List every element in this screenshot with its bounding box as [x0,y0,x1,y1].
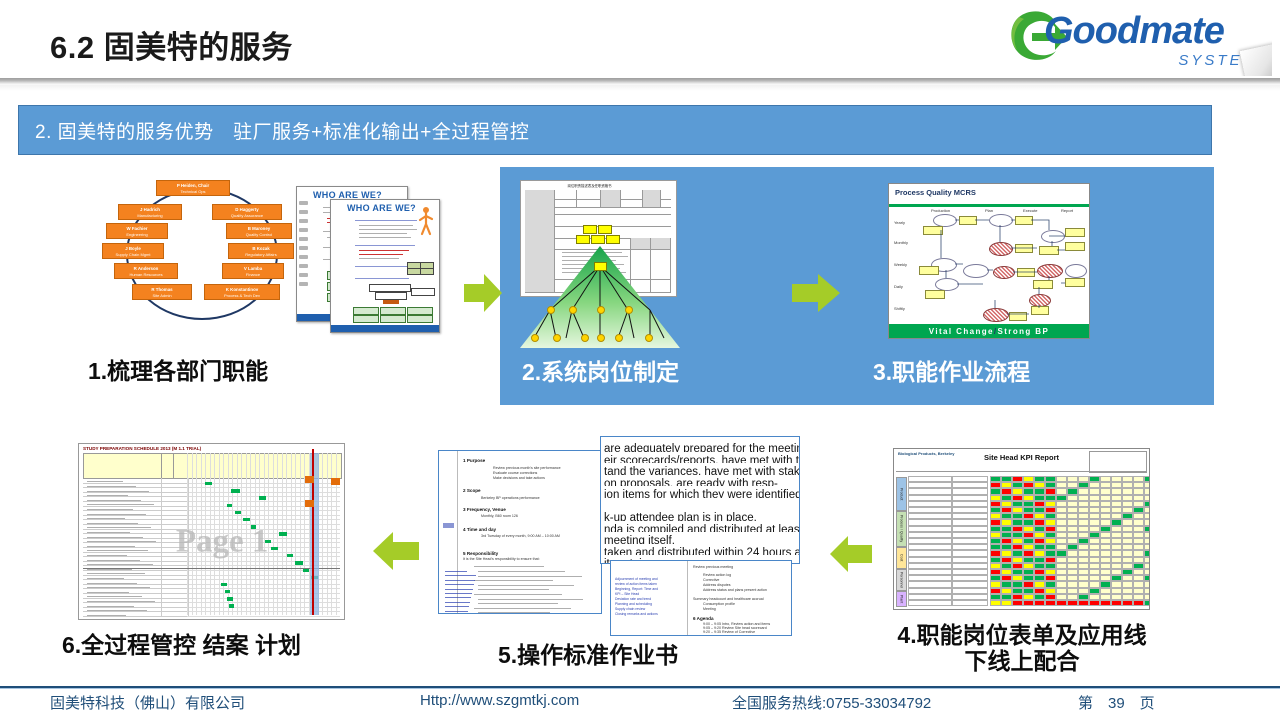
step-4-caption-line1: 4.职能岗位表单及应用线 [897,622,1146,648]
position-dot [581,334,589,342]
kpi-cell [1133,600,1144,606]
step-4-caption: 4.职能岗位表单及应用线 下线上配合 [888,622,1156,675]
org-node-name: J Hadrich [140,207,160,212]
doc-section-head: 4 Time and day [463,527,496,532]
org-node-name: J Boyle [125,246,141,251]
mcrs-footer-right: Strong BP [998,327,1050,336]
step-3-caption: 3.职能作业流程 [873,359,1030,385]
org-node-role: Regulatory Affairs [229,252,293,257]
gantt-watermark: Page 1 [176,524,269,561]
kpi-cell [1001,600,1012,606]
arrow-right-2 [790,272,842,314]
org-node-role: Quality Control [227,232,291,237]
footer-website: Http://www.szgmtkj.com [420,692,579,709]
org-node-name: V Lamba [244,266,262,271]
doc-line: Make decisions and take actions [493,476,545,481]
company-logo: Goodmate SYSTEM [1004,2,1272,76]
zoom-text-line: nda is compiled and distributed at least [604,521,799,533]
thumb-mcrs-diagram: Process Quality MCRS Production Plan Exe… [888,183,1090,339]
kpi-cell [1100,600,1111,606]
step-4-caption-line2: 下线上配合 [965,648,1080,674]
kpi-cell [1056,600,1067,606]
kpi-cell [1045,600,1056,606]
kpi-cell [1078,600,1089,606]
org-node: J Hadrich Manufacturing [118,204,182,220]
step-2-caption: 2.系统岗位制定 [522,359,679,385]
org-node-role: Engineering [107,232,167,237]
kpi-group-label: Process / Quality [896,511,907,547]
org-node: R Anderson Human Resources [114,263,178,279]
who-are-we-title: WHO ARE WE? [347,203,416,213]
kpi-cell [1122,600,1133,606]
thumb-kpi-report: Biological Products, Berkeley Site Head … [893,448,1150,610]
zoom-text-line: taken and distributed within 24 hours a [604,544,799,556]
org-node-role: Supply Chain Mgmt [103,252,163,257]
kpi-value-cell [952,600,988,606]
position-dot [569,306,577,314]
kpi-group-label: Personnel [896,569,907,591]
position-dot [645,334,653,342]
gantt-bar [221,583,227,586]
org-node-role: Quality Assurance [213,213,281,218]
mcrs-connectors [889,184,1089,338]
who-side-strip [299,201,308,312]
gantt-bar [229,604,234,607]
org-node-role: Site Admin [133,293,191,298]
org-node-name: R Thomas [151,287,172,292]
thumb-meeting-doc-main: 1 Purpose Review previous month's site p… [438,450,602,614]
page-fold-decoration [1212,2,1272,76]
thumb-org-chart: P Heiden, Chair Technical Ops J Hadrich … [100,180,300,325]
step-1-caption: 1.梳理各部门职能 [88,358,268,384]
footer-page-number: 第 39 页 [1078,692,1155,713]
position-dot [625,306,633,314]
org-node: K Konstantinov Process & Tech Dev [204,284,280,300]
thumb-meeting-doc-secondary: Adjournment of meeting and review of act… [610,560,792,636]
org-node: W Fachier Engineering [106,223,168,239]
org-node: B Maroney Quality Control [226,223,292,239]
position-dot [615,334,623,342]
org-node-name: W Fachier [127,226,148,231]
kpi-cell [1034,600,1045,606]
position-dot [531,334,539,342]
gantt-bar [271,547,278,550]
org-node: R Thomas Site Admin [132,284,192,300]
arrow-left-2 [828,534,874,574]
page-title: 6.2 固美特的服务 [50,22,293,67]
gantt-bar [225,590,230,593]
section-subtitle-text: 2. 固美特的服务优势 驻厂服务+标准化输出+全过程管控 [19,117,529,144]
position-chip [594,262,607,271]
org-node-name: R Anderson [134,266,159,271]
footer-company: 固美特科技（佛山）有限公司 [50,692,245,713]
doc-section-head: 5 Responsibility [463,551,498,556]
doc-section-head: 2 Scope [463,488,481,493]
thumb-gantt-schedule: STUDY PREPARATION SCHEDULE 2013 (M 1.1 T… [78,443,345,620]
zoom-text-line: are adequately prepared for the meeting: [604,440,799,452]
position-chip [598,225,612,234]
gantt-title: STUDY PREPARATION SCHEDULE 2013 (M 1.1 T… [83,446,201,451]
arrow-right-1 [462,272,504,314]
zoom-text-lines: are adequately prepared for the meeting:… [604,440,799,564]
position-chip [606,235,620,244]
thumb-meeting-doc-zoom: are adequately prepared for the meeting:… [600,436,800,564]
mcrs-footer-left: Vital Change [929,327,994,336]
org-node: P Heiden, Chair Technical Ops [156,180,230,196]
slide-root: 6.2 固美特的服务 Goodmate SYSTEM 2. 固美特的服务优势 驻… [0,0,1280,720]
thumb-who-are-we-front: WHO ARE WE? [330,199,440,333]
kpi-cell [1111,600,1122,606]
org-node-role: Manufacturing [119,213,181,218]
gantt-bar [227,597,233,600]
org-node-role: Human Resources [115,272,177,277]
gantt-bar [235,511,241,514]
gantt-bar [231,489,240,492]
runner-figure-icon [418,206,434,236]
org-node: V Lamba Finance [222,263,284,279]
kpi-group-label: Cost [896,547,907,569]
org-node-role: Technical Ops [157,189,229,194]
zoom-text-line: eir scorecards/reports, have met with th… [604,452,799,464]
position-dot [597,306,605,314]
org-node-name: B Maroney [248,226,270,231]
org-node: J Boyle Supply Chain Mgmt [102,243,164,259]
kpi-group-label: Plant [896,591,907,607]
footer-hotline: 全国服务热线:0755-33034792 [732,692,931,713]
org-node-name: D Haggerty [235,207,258,212]
step-5-caption: 5.操作标准作业书 [498,642,678,668]
step-6-caption: 6.全过程管控 结案 计划 [62,632,301,658]
org-node: B Kozak Regulatory Affairs [228,243,294,259]
position-chip [591,235,605,244]
kpi-cell [1144,600,1150,606]
footer-divider-light [0,688,1280,689]
gantt-bar [295,561,303,564]
org-node-role: Process & Tech Dev [205,293,279,298]
doc-section-head: 1 Purpose [463,458,485,463]
gantt-bar [227,504,232,507]
doc-line: 3rd Tuesday of every month, 9:00 AM – 10… [481,534,560,539]
header-divider [0,78,1280,85]
kpi-group-label: Product [896,477,907,511]
org-node-name: P Heiden, Chair [177,183,209,188]
gantt-bar [205,482,212,485]
gantt-bar [279,532,287,535]
doc-line: Monthly, B60 room 126 [481,514,518,519]
kpi-cell [1067,600,1078,606]
section-subtitle-bar: 2. 固美特的服务优势 驻厂服务+标准化输出+全过程管控 [18,105,1212,155]
kpi-cell [1089,600,1100,606]
kpi-cell [1023,600,1034,606]
who-footer-bar [331,325,439,332]
org-node-name: K Konstantinov [226,287,258,292]
arrow-left-1 [371,530,421,572]
kpi-title: Site Head KPI Report [984,453,1059,462]
kpi-cell [990,600,1001,606]
doc-section-head: 3 Frequency, Venue [463,507,506,512]
gantt-bar [259,496,266,499]
position-dot [547,306,555,314]
kpi-brand: Biological Products, Berkeley [898,451,954,456]
zoom-text-line: meeting itself. [604,532,799,544]
org-node-role: Finance [223,272,283,277]
org-node-name: B Kozak [252,246,269,251]
position-chip [576,235,590,244]
gantt-bar [243,518,250,521]
position-dot [553,334,561,342]
zoom-text-line: ion items for which they were identified [604,486,799,498]
kpi-label-cell [908,600,952,606]
gantt-bar [287,554,293,557]
zoom-text-line: on proposals, are ready with resp- [604,475,799,487]
kpi-cell [1012,600,1023,606]
org-node: D Haggerty Quality Assurance [212,204,282,220]
mcrs-footer: Vital Change / Strong BP [889,324,1089,338]
doc-line: It is the Site Head's responsibility to … [463,557,540,562]
zoom-text-line: tand the variances, have met with stake- [604,463,799,475]
position-chip [583,225,597,234]
zoom-text-line [604,498,799,510]
doc-line: Berkeley BP operations performance [481,496,540,501]
position-dot [597,334,605,342]
logo-wordmark: Goodmate [1044,12,1224,50]
zoom-text-line: k-up attendee plan is in place. [604,509,799,521]
